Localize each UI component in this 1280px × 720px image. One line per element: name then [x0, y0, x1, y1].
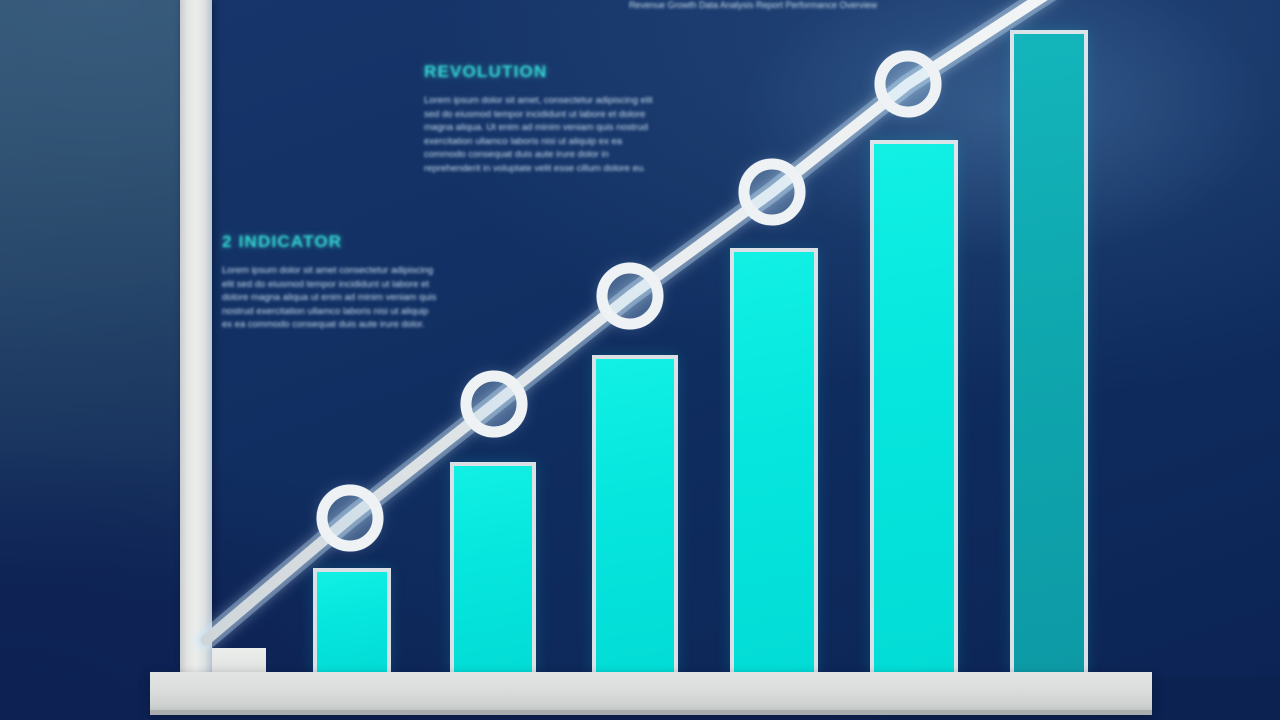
bar-3[interactable]	[592, 355, 678, 674]
top-caption-block: Revenue Growth Data Analysis Report Perf…	[588, 0, 918, 11]
body-revolution-line-3: magna aliqua. Ut enim ad minim veniam qu…	[424, 121, 686, 135]
infographic-canvas: Revenue Growth Data Analysis Report Perf…	[0, 0, 1280, 720]
body-indicator-line-1: Lorem ipsum dolor sit amet consectetur a…	[222, 264, 480, 278]
body-indicator-line-2: elit sed do eiusmod tempor incididunt ut…	[222, 278, 480, 292]
top-caption-line-1: Revenue Growth Data Analysis Report Perf…	[588, 0, 918, 11]
body-indicator-line-4: nostrud exercitation ullamco laboris nis…	[222, 305, 480, 319]
body-indicator-line-3: dolore magna aliqua ut enim ad minim ven…	[222, 291, 480, 305]
text-block-revolution: REVOLUTION Lorem ipsum dolor sit amet, c…	[424, 62, 686, 175]
bar-3-fill	[596, 359, 674, 674]
bar-6-fill	[1014, 34, 1084, 674]
heading-revolution: REVOLUTION	[424, 62, 686, 82]
body-revolution-line-5: commodo consequat duis aute irure dolor …	[424, 148, 686, 162]
text-block-indicator: 2 INDICATOR Lorem ipsum dolor sit amet c…	[222, 232, 480, 332]
bar-4[interactable]	[730, 248, 818, 674]
bar-1-fill	[317, 572, 387, 674]
bar-5-fill	[874, 144, 954, 674]
body-indicator-line-5: ex ea commodo consequat duis aute irure …	[222, 318, 480, 332]
heading-indicator: 2 INDICATOR	[222, 232, 480, 252]
top-caption-text: Revenue Growth Data Analysis Report Perf…	[588, 0, 918, 11]
y-axis	[180, 0, 212, 676]
chart-baseline	[150, 672, 1152, 714]
bar-2-fill	[454, 466, 532, 674]
body-indicator: Lorem ipsum dolor sit amet consectetur a…	[222, 264, 480, 332]
body-revolution-line-4: exercitation ullamco laboris nisi ut ali…	[424, 135, 686, 149]
bar-1[interactable]	[313, 568, 391, 674]
axis-step-block	[212, 648, 266, 674]
body-revolution-line-6: reprehenderit in voluptate velit esse ci…	[424, 162, 686, 176]
body-revolution-line-2: sed do eiusmod tempor incididunt ut labo…	[424, 108, 686, 122]
bar-6[interactable]	[1010, 30, 1088, 674]
bar-5[interactable]	[870, 140, 958, 674]
bar-4-fill	[734, 252, 814, 674]
body-revolution: Lorem ipsum dolor sit amet, consectetur …	[424, 94, 686, 175]
body-revolution-line-1: Lorem ipsum dolor sit amet, consectetur …	[424, 94, 686, 108]
chart-baseline-edge	[150, 710, 1152, 715]
bar-2[interactable]	[450, 462, 536, 674]
